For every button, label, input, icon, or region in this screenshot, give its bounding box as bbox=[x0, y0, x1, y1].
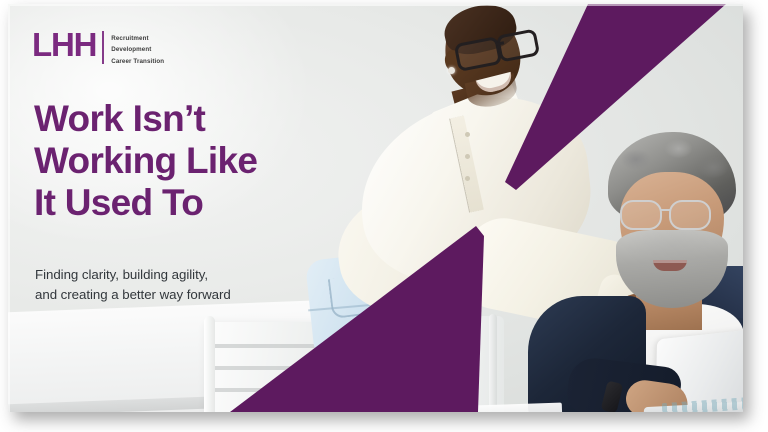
man-eyeglasses-right-lens bbox=[669, 200, 711, 230]
lhh-logo[interactable]: LHH Recruitment Development Career Trans… bbox=[32, 30, 164, 67]
chair-slat bbox=[212, 366, 352, 370]
screenshot-canvas: LHH Recruitment Development Career Trans… bbox=[0, 0, 768, 432]
second-chair-post-left bbox=[445, 310, 454, 412]
subhead-line-1: Finding clarity, building agility, bbox=[35, 265, 325, 285]
logo-tagline-line-3: Career Transition bbox=[111, 56, 164, 67]
man-eyeglasses-bridge bbox=[661, 209, 671, 211]
woman-jacket-button bbox=[465, 154, 470, 159]
second-chair-post-right bbox=[489, 314, 497, 412]
headline-line-1: Work Isn’t bbox=[34, 98, 334, 140]
lhh-logo-wordmark: LHH bbox=[32, 30, 96, 60]
logo-tagline-line-1: Recruitment bbox=[111, 33, 164, 44]
chair-slat bbox=[212, 388, 352, 392]
woman-jacket-button bbox=[465, 132, 470, 137]
woman-jacket-button bbox=[465, 176, 470, 181]
logo-tagline: Recruitment Development Career Transitio… bbox=[111, 30, 164, 67]
presentation-slide: LHH Recruitment Development Career Trans… bbox=[8, 4, 743, 412]
slide-headline: Work Isn’t Working Like It Used To bbox=[34, 98, 334, 223]
headline-line-2: Working Like bbox=[34, 140, 334, 182]
subhead-line-2: and creating a better way forward bbox=[35, 285, 325, 305]
logo-divider-rule bbox=[102, 31, 104, 64]
man-eyeglasses-left-lens bbox=[620, 200, 662, 230]
woman-earring bbox=[448, 67, 455, 74]
logo-tagline-line-2: Development bbox=[111, 44, 164, 55]
headline-line-3: It Used To bbox=[34, 182, 334, 224]
white-chair-post bbox=[204, 316, 215, 412]
slide-subheadline: Finding clarity, building agility, and c… bbox=[35, 265, 325, 304]
